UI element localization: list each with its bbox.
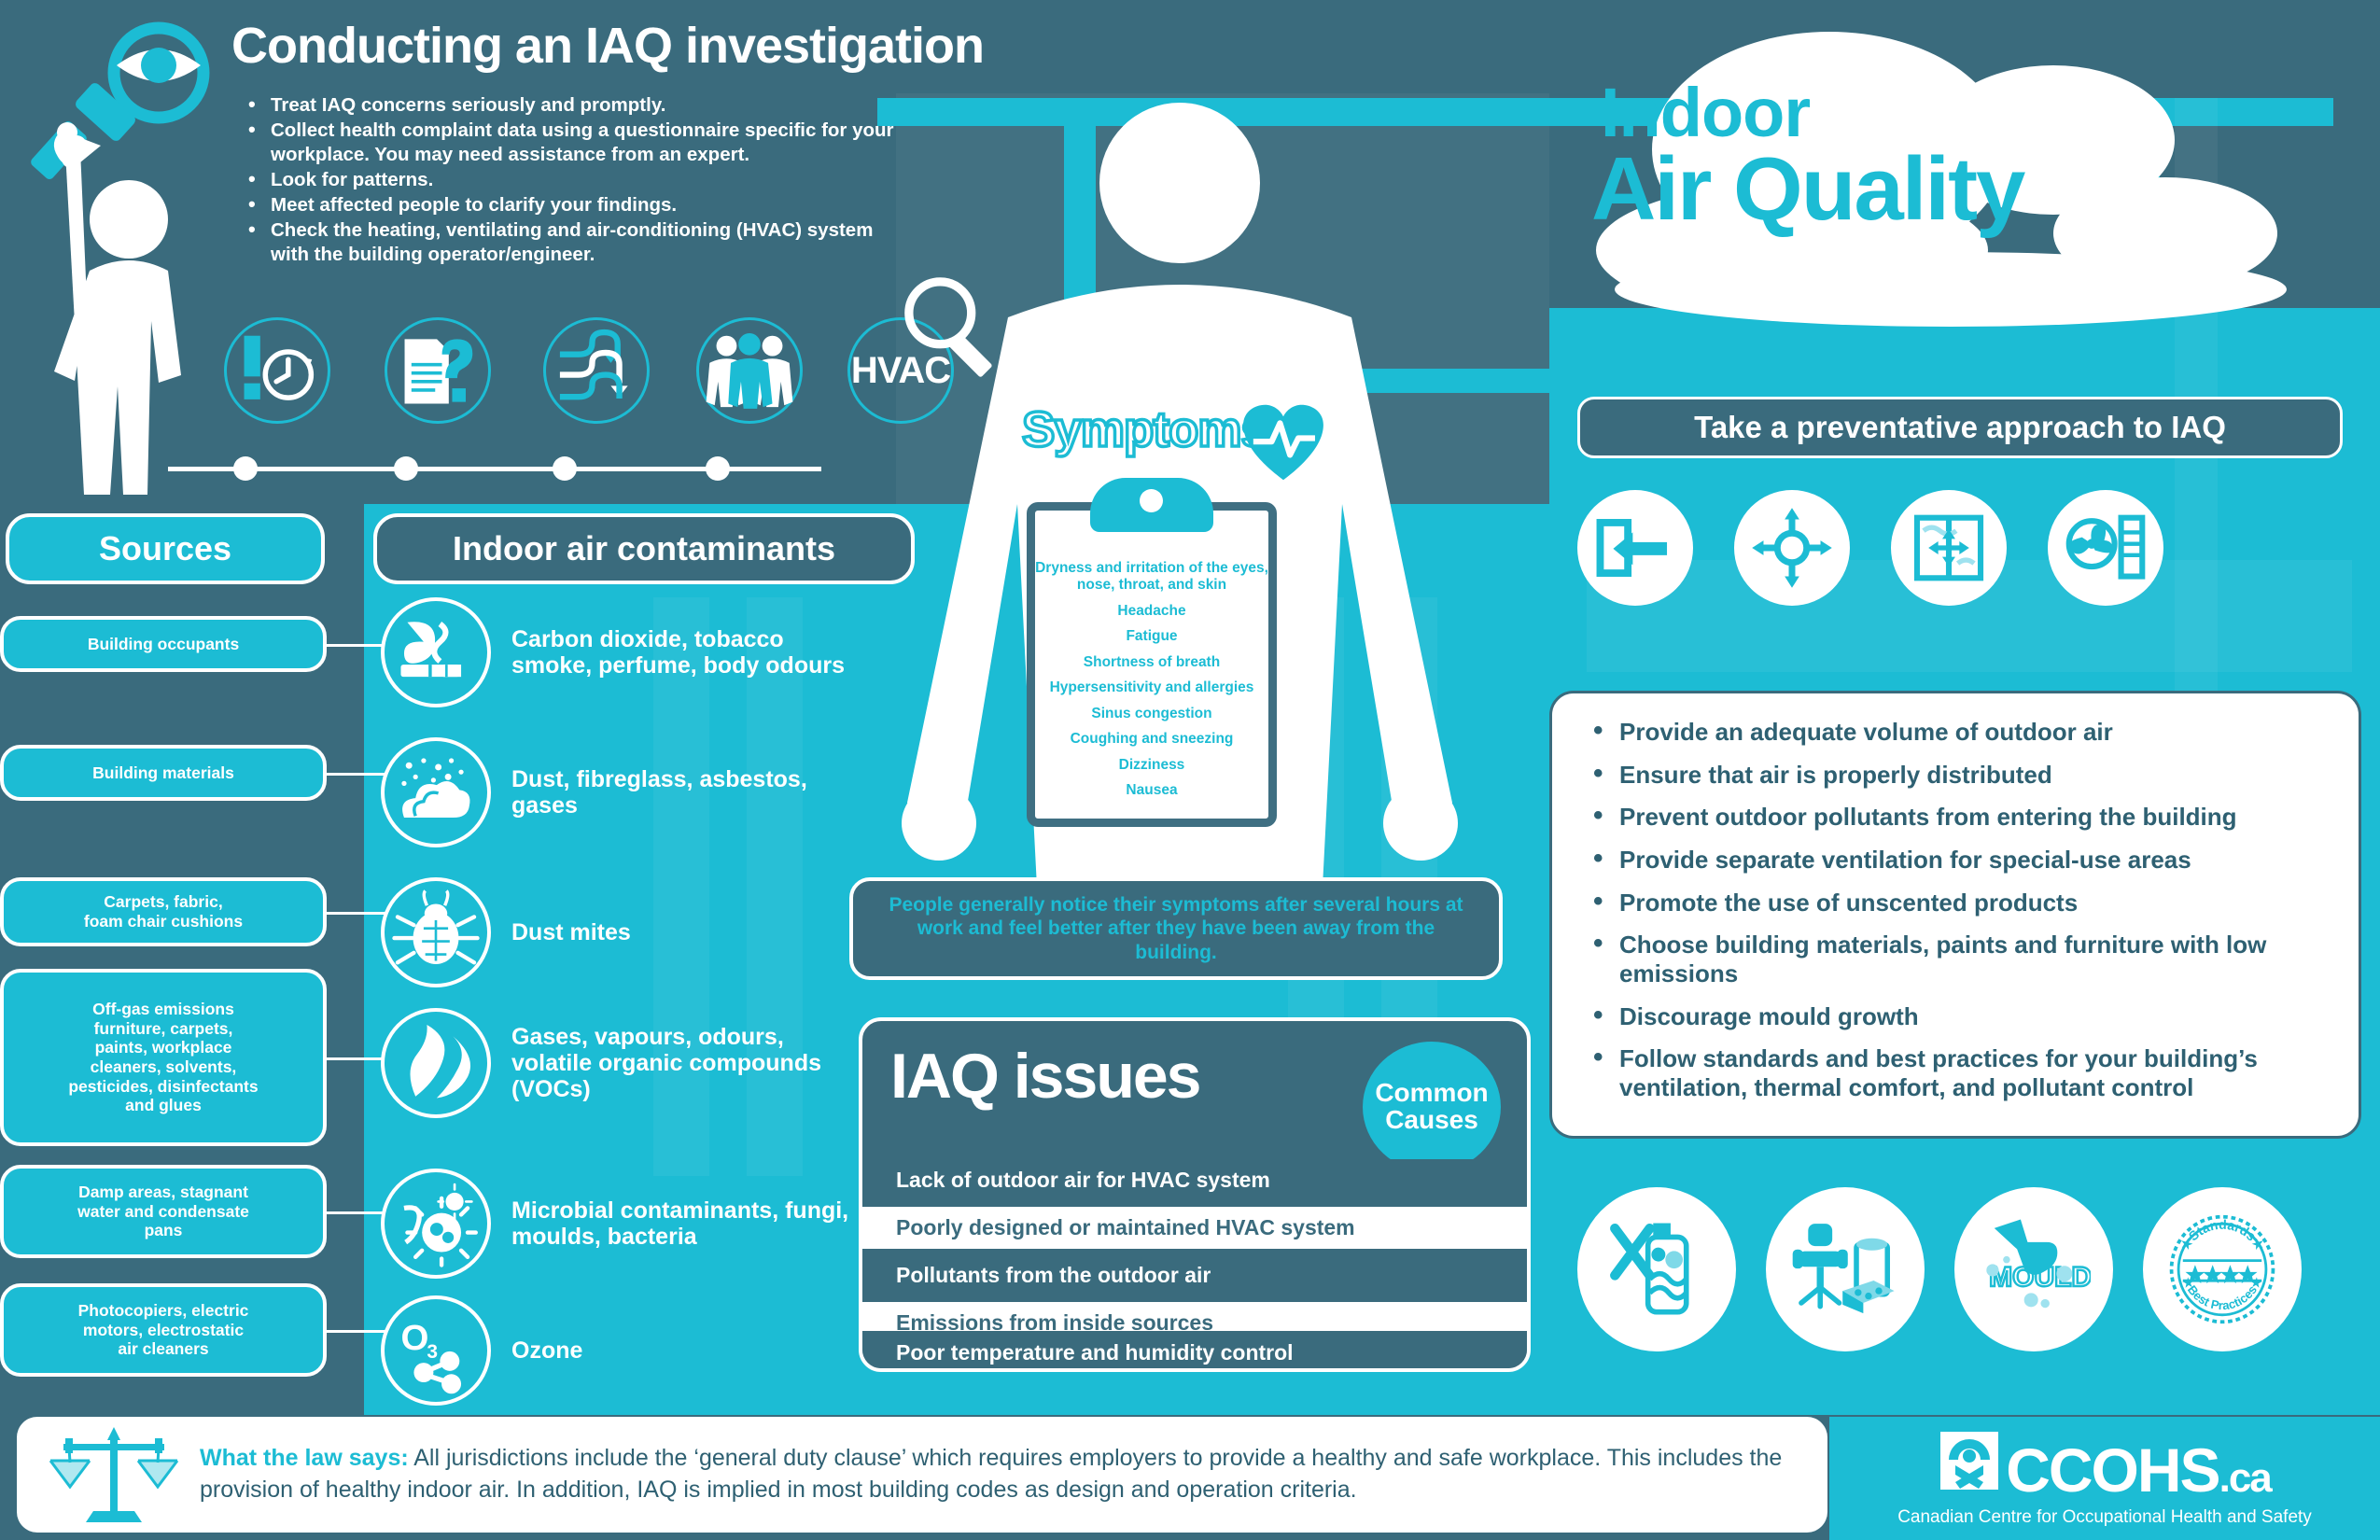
symptom-item: Headache: [1032, 603, 1271, 620]
brand-name: CCOHS: [2006, 1435, 2219, 1505]
timeline-node: [233, 456, 258, 481]
symptom-item: Dizziness: [1032, 757, 1271, 774]
dust-cloud-icon: [381, 737, 491, 847]
contaminant-row: Gases, vapours, odours, volatile organic…: [381, 1008, 857, 1118]
gas-vapour-icon: [381, 1008, 491, 1118]
source-item[interactable]: Photocopiers, electric motors, electrost…: [0, 1283, 327, 1377]
alert-clock-icon: [224, 317, 330, 424]
contaminant-label: Carbon dioxide, tobacco smoke, perfume, …: [511, 626, 857, 679]
no-mould-icon: MOULD: [1954, 1187, 2113, 1351]
prevention-header: Take a preventative approach to IAQ: [1577, 397, 2343, 458]
symptom-item: Sinus congestion: [1032, 706, 1271, 722]
clipboard-clip-hole: [1140, 489, 1163, 512]
source-item[interactable]: Damp areas, stagnant water and condensat…: [0, 1165, 327, 1258]
list-item: Provide an adequate volume of outdoor ai…: [1588, 718, 2331, 747]
sources-header: Sources: [6, 513, 325, 584]
list-item: Meet affected people to clarify your fin…: [245, 193, 917, 217]
footer-law-bar: What the law says: All jurisdictions inc…: [17, 1417, 1827, 1533]
symptom-item: Coughing and sneezing: [1032, 731, 1271, 748]
prevention-list: Provide an adequate volume of outdoor ai…: [1588, 718, 2331, 1102]
symptom-item: Fatigue: [1032, 628, 1271, 645]
iaq-issue-row: Poor temperature and humidity control: [862, 1331, 1527, 1372]
page-title: Conducting an IAQ investigation: [231, 17, 1146, 75]
cigarette-smoke-icon: [381, 597, 491, 707]
investigator-figure-icon: [19, 9, 233, 495]
iaq-issue-row: Lack of outdoor air for HVAC system: [862, 1159, 1527, 1201]
footer-text: What the law says: All jurisdictions inc…: [200, 1443, 1786, 1506]
source-item[interactable]: Carpets, fabric, foam chair cushions: [0, 877, 327, 946]
iaq-issue-row: Poorly designed or maintained HVAC syste…: [862, 1207, 1527, 1249]
contaminant-label: Ozone: [511, 1337, 857, 1364]
prevention-icon-row: [1577, 490, 2343, 611]
pattern-arrows-icon: [543, 317, 650, 424]
seal-top-label: ★Standards★: [2177, 1217, 2268, 1253]
ccohs-symbol-icon: [1939, 1430, 2000, 1491]
iaq-issues-panel: IAQ issues Common Causes Lack of outdoor…: [859, 1017, 1531, 1372]
list-item: Follow standards and best practices for …: [1588, 1044, 2331, 1101]
scales-of-justice-icon: [45, 1423, 185, 1526]
microbe-icon: [381, 1169, 491, 1279]
contaminant-label: Microbial contaminants, fungi, moulds, b…: [511, 1197, 857, 1250]
symptoms-note-box: People generally notice their symptoms a…: [849, 877, 1503, 980]
prevention-card: Provide an adequate volume of outdoor ai…: [1549, 691, 2361, 1139]
brand-subtitle: Canadian Centre for Occupational Health …: [1897, 1507, 2312, 1528]
heart-pulse-icon: [1241, 403, 1325, 482]
contaminant-label: Dust mites: [511, 919, 857, 945]
list-item: Promote the use of unscented products: [1588, 889, 2331, 917]
footer-law-text: All jurisdictions include the ‘general d…: [200, 1445, 1782, 1503]
footer-law-label: What the law says:: [200, 1445, 409, 1471]
symptom-item: Nausea: [1032, 782, 1271, 799]
list-item: Discourage mould growth: [1588, 1002, 2331, 1031]
investigation-steps-list: Treat IAQ concerns seriously and promptl…: [245, 93, 917, 268]
timeline-node: [394, 456, 418, 481]
symptom-item: Shortness of breath: [1032, 654, 1271, 671]
list-item: Ensure that air is properly distributed: [1588, 761, 2331, 790]
list-item: Provide separate ventilation for special…: [1588, 846, 2331, 875]
air-intake-icon: [1577, 490, 1693, 606]
iaq-issue-row: Pollutants from the outdoor air: [862, 1254, 1527, 1296]
logo-word-air-quality: Air Quality: [1591, 138, 2023, 241]
source-item[interactable]: Off-gas emissions furniture, carpets, pa…: [0, 969, 327, 1146]
source-item[interactable]: Building occupants: [0, 616, 327, 672]
contaminant-row: Microbial contaminants, fungi, moulds, b…: [381, 1169, 857, 1279]
list-item: Check the heating, ventilating and air-c…: [245, 218, 917, 267]
contaminant-row: Carbon dioxide, tobacco smoke, perfume, …: [381, 597, 857, 707]
ozone-molecule-icon: O 3: [381, 1295, 491, 1406]
low-emission-furniture-paint-icon: [1766, 1187, 1925, 1351]
separate-ventilation-fan-icon: [2048, 490, 2163, 606]
symptoms-title: Symptoms: [1022, 401, 1267, 458]
list-item: Prevent outdoor pollutants from entering…: [1588, 803, 2331, 832]
contaminant-row: Dust, fibreglass, asbestos, gases: [381, 737, 857, 847]
dust-mite-icon: [381, 877, 491, 987]
common-causes-badge: Common Causes: [1363, 1042, 1501, 1172]
timeline-node: [553, 456, 577, 481]
ccohs-logo[interactable]: CCOHS.ca Canadian Centre for Occupationa…: [1829, 1417, 2380, 1540]
list-item: Look for patterns.: [245, 168, 917, 192]
symptom-item: Dryness and irritation of the eyes, nose…: [1032, 560, 1271, 595]
prevention-bottom-icon-row: MOULD ★Standards★ ★Best Practices★: [1577, 1187, 2343, 1355]
standards-best-practices-seal-icon: ★Standards★ ★Best Practices★: [2143, 1187, 2302, 1351]
badge-line-2: Causes: [1385, 1107, 1478, 1134]
list-item: Choose building materials, paints and fu…: [1588, 931, 2331, 987]
symptom-item: Hypersensitivity and allergies: [1032, 679, 1271, 696]
air-distribution-icon: [1734, 490, 1850, 606]
no-scented-products-icon: [1577, 1187, 1736, 1351]
timeline-node: [706, 456, 730, 481]
contaminant-label: Gases, vapours, odours, volatile organic…: [511, 1024, 857, 1102]
symptoms-list: Dryness and irritation of the eyes, nose…: [1032, 560, 1271, 807]
outdoor-pollutant-barrier-icon: [1891, 490, 2007, 606]
svg-text:★Standards★: ★Standards★: [2177, 1217, 2268, 1253]
people-group-icon: [696, 317, 803, 424]
list-item: Collect health complaint data using a qu…: [245, 119, 917, 167]
badge-line-1: Common: [1375, 1080, 1488, 1107]
contaminant-row: Dust mites: [381, 877, 857, 987]
contaminant-label: Dust, fibreglass, asbestos, gases: [511, 766, 857, 819]
brand-wordmark: CCOHS.ca: [1939, 1430, 2271, 1505]
svg-text:MOULD: MOULD: [1989, 1262, 2091, 1293]
brand-tld: .ca: [2219, 1455, 2271, 1502]
questionnaire-icon: [385, 317, 491, 424]
source-item[interactable]: Building materials: [0, 745, 327, 801]
svg-text:3: 3: [427, 1341, 438, 1363]
svg-text:O: O: [400, 1318, 428, 1358]
symptoms-note-text: People generally notice their symptoms a…: [877, 893, 1475, 965]
contaminant-row: O 3 Ozone: [381, 1295, 857, 1406]
infographic-canvas: Conducting an IAQ investigation Treat IA…: [0, 0, 2380, 1540]
list-item: Treat IAQ concerns seriously and promptl…: [245, 93, 917, 118]
iaq-issues-title: IAQ issues: [890, 1040, 1200, 1113]
